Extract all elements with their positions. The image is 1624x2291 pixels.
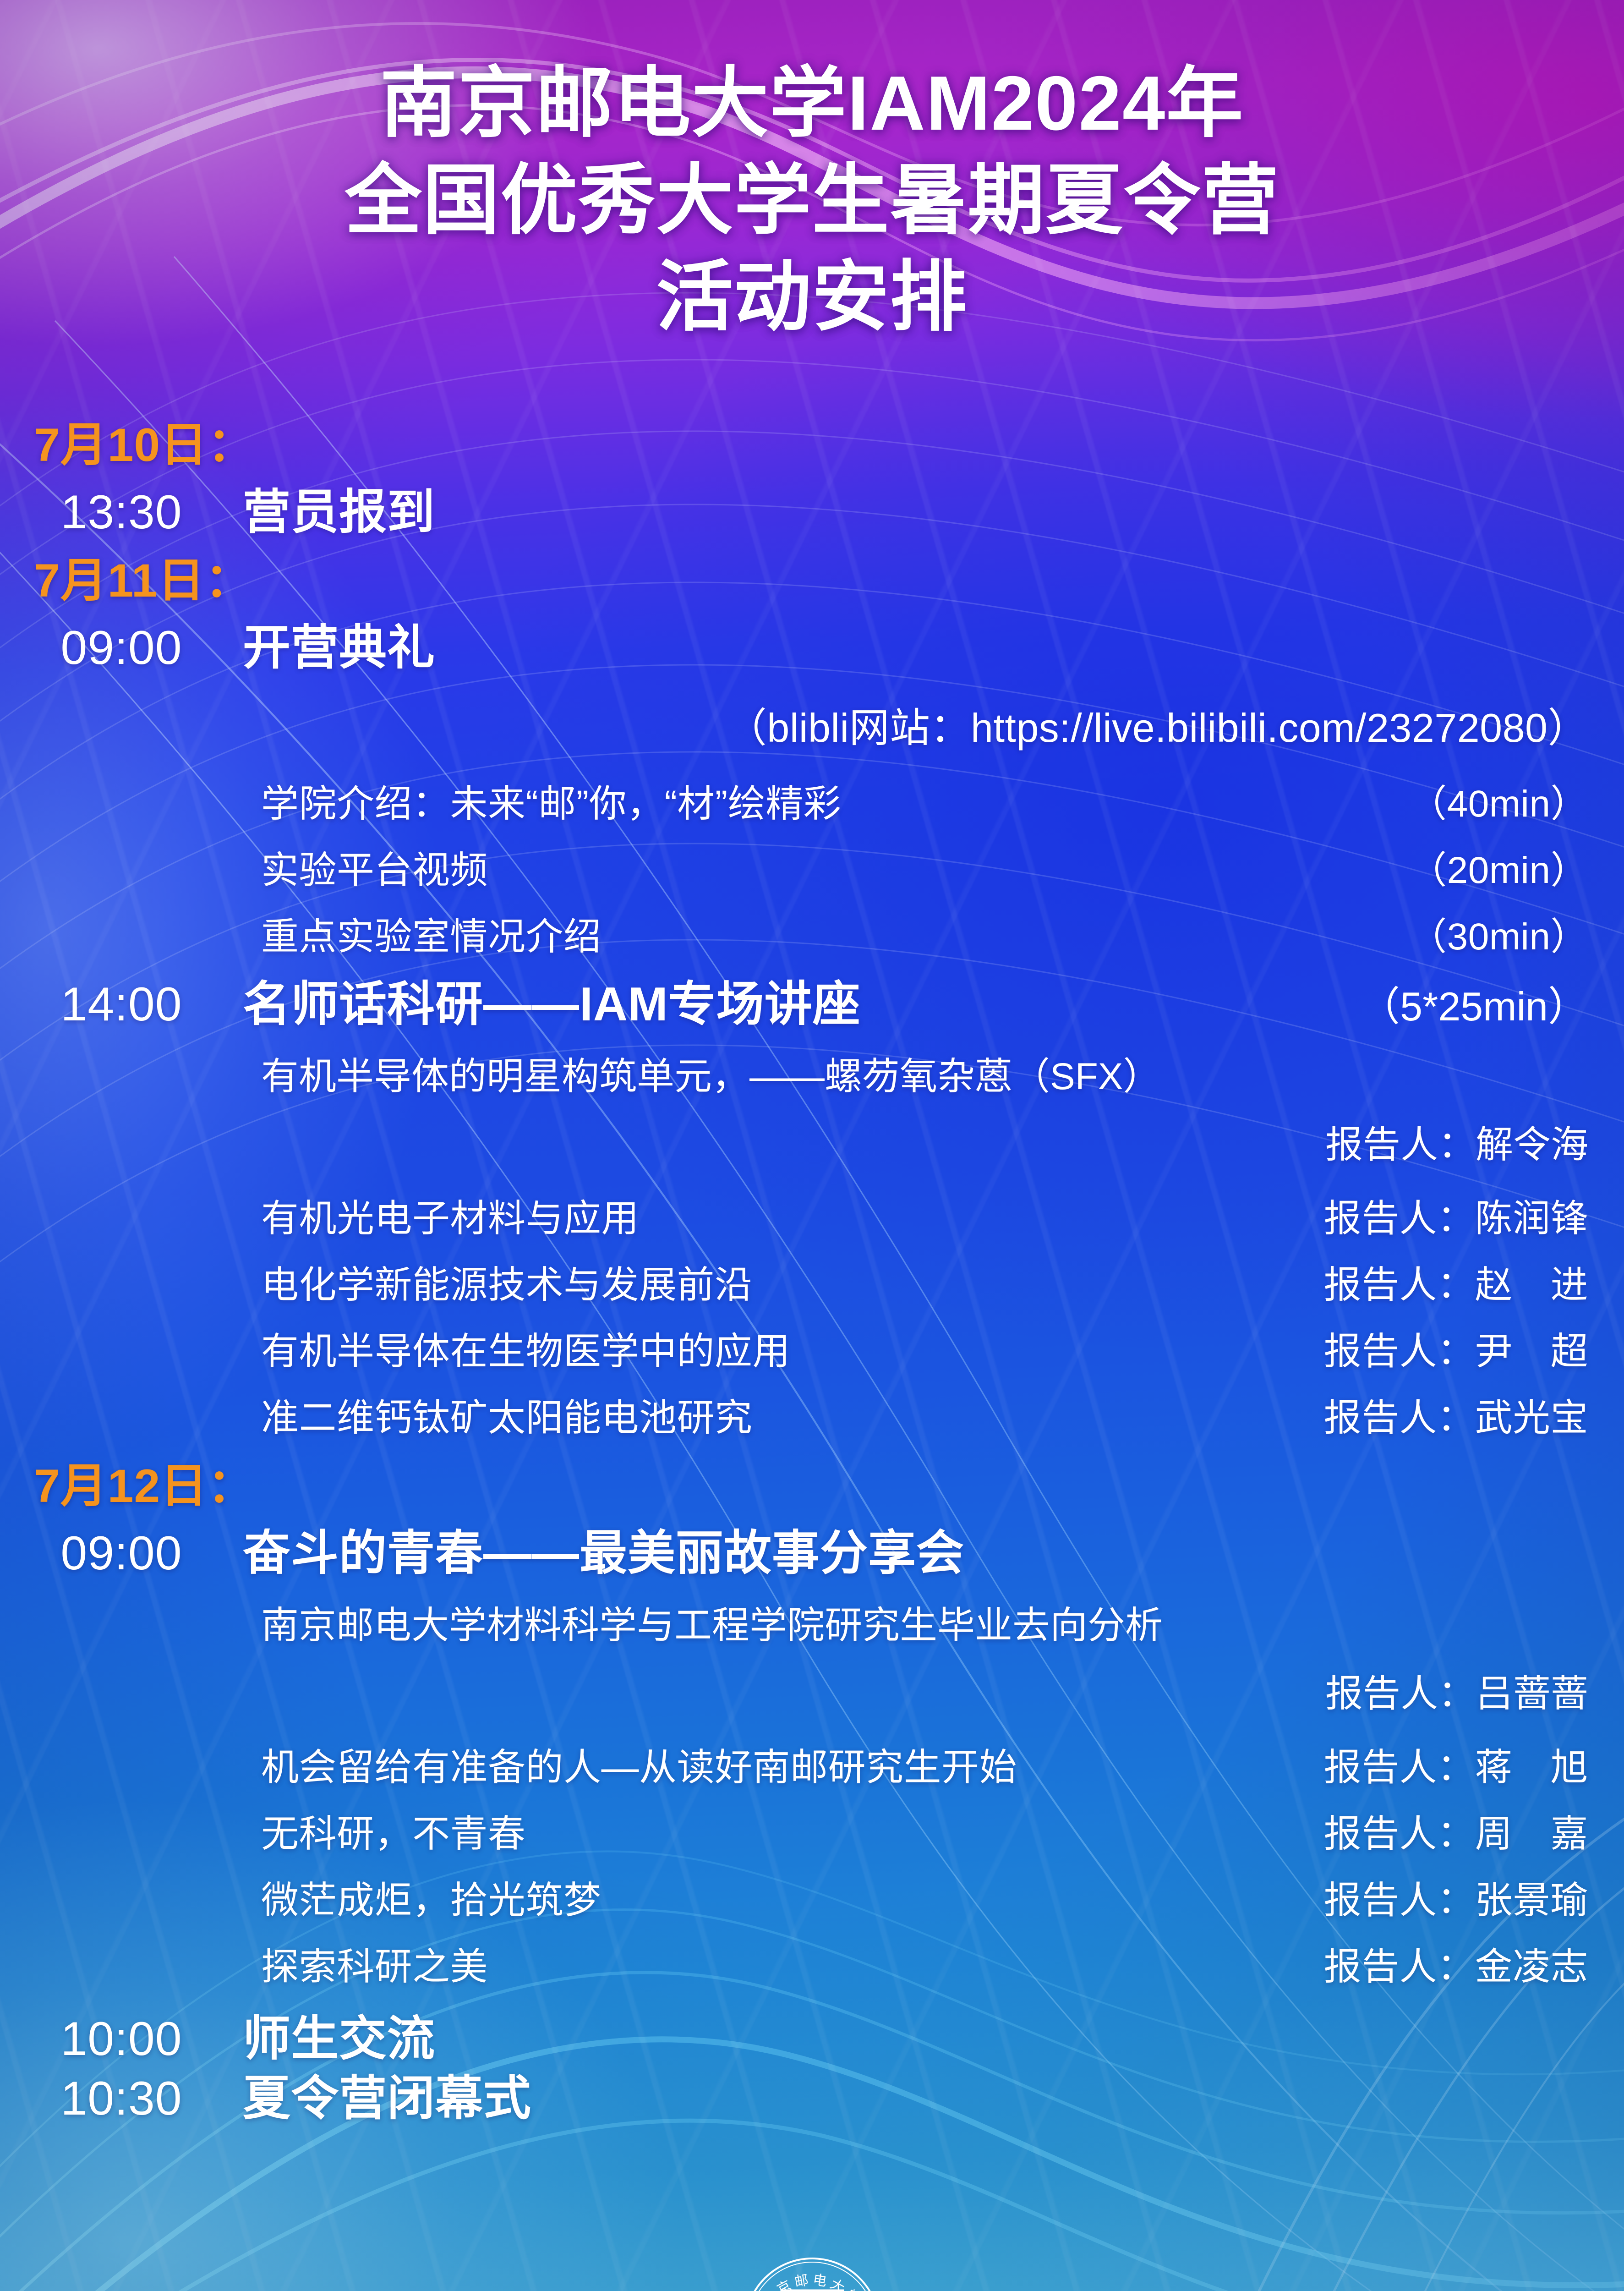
talk-speaker: 报告人：吕蔷蔷 [0, 1663, 1624, 1717]
talk-speaker: 报告人：张景瑜 [1323, 1869, 1588, 1924]
schedule-row-checkin: 13:30 营员报到 [0, 488, 1624, 536]
talk-row: 有机光电子材料与应用 报告人：陈润锋 [0, 1188, 1624, 1242]
session-title: 重点实验室情况介绍 [261, 906, 601, 960]
motto-right: 自强不息 [957, 2290, 1197, 2291]
talk-row: 有机半导体在生物医学中的应用 报告人：尹 超 [0, 1321, 1624, 1375]
closing-title: 夏令营闭幕式 [243, 2075, 531, 2122]
talk-speaker: 报告人：尹 超 [1323, 1321, 1588, 1375]
talk-title: 探索科研之美 [261, 1936, 488, 1990]
schedule-row-closing: 10:30 夏令营闭幕式 [0, 2075, 1624, 2122]
title-line-1: 南京邮电大学IAM2024年 [0, 55, 1624, 152]
talk-speaker: 报告人：金凌志 [1323, 1936, 1588, 1990]
talk-speaker: 报告人：周 嘉 [1323, 1803, 1588, 1858]
poster-root: 南京邮电大学IAM2024年 全国优秀大学生暑期夏令营 活动安排 7月10日： … [0, 0, 1624, 2291]
talk-speaker: 报告人：解令海 [0, 1114, 1624, 1168]
talk-row: 无科研，不青春 报告人：周 嘉 [0, 1803, 1624, 1858]
iam-lecture-title: 名师话科研——IAM专场讲座 [243, 981, 861, 1028]
live-stream-link[interactable]: （blibli网站：https://live.bilibili.com/2327… [0, 696, 1624, 754]
talk-speaker: 报告人：蒋 旭 [1323, 1737, 1588, 1791]
title-line-3: 活动安排 [0, 249, 1624, 346]
iam-lecture-duration: （5*25min） [1360, 987, 1624, 1027]
session-row: 重点实验室情况介绍 （30min） [0, 906, 1624, 960]
schedule-body: 7月10日： 13:30 营员报到 7月11日： 09:00 开营典礼 （bli… [0, 422, 1624, 2122]
talk-row: 微茫成炬，拾光筑梦 报告人：张景瑜 [0, 1869, 1624, 1924]
talk-title: 南京邮电大学材料科学与工程学院研究生毕业去向分析 [0, 1595, 1624, 1649]
opening-title: 开营典礼 [243, 624, 435, 672]
talk-title: 有机光电子材料与应用 [261, 1188, 639, 1242]
session-row: 实验平台视频 （20min） [0, 839, 1624, 894]
day-header-july-10: 7月10日： [34, 422, 1624, 468]
iam-lecture-time: 14:00 [0, 981, 243, 1028]
title-line-2: 全国优秀大学生暑期夏令营 [0, 152, 1624, 249]
story-session-time: 09:00 [0, 1529, 243, 1577]
session-title: 学院介绍：未来“邮”你，“材”绘精彩 [261, 773, 841, 828]
exchange-title: 师生交流 [243, 2015, 435, 2063]
poster-footer: 信达天下 南京邮电大学 Nanjing University of Posts … [0, 2248, 1624, 2291]
talk-title: 无科研，不青春 [261, 1803, 526, 1858]
svg-text:南京邮电大学: 南京邮电大学 [760, 2272, 864, 2291]
talk-row: 机会留给有准备的人—从读好南邮研究生开始 报告人：蒋 旭 [0, 1737, 1624, 1791]
day-header-july-11: 7月11日： [34, 557, 1624, 604]
talk-speaker: 报告人：武光宝 [1323, 1387, 1588, 1441]
talk-title: 有机半导体的明星构筑单元，——螺芴氧杂蒽（SFX） [0, 1046, 1624, 1100]
schedule-row-story-session: 09:00 奋斗的青春——最美丽故事分享会 [0, 1529, 1624, 1577]
exchange-time: 10:00 [0, 2015, 243, 2063]
story-session-title: 奋斗的青春——最美丽故事分享会 [243, 1529, 964, 1577]
opening-time: 09:00 [0, 624, 243, 672]
session-duration: （20min） [1409, 839, 1588, 894]
talk-row: 准二维钙钛矿太阳能电池研究 报告人：武光宝 [0, 1387, 1624, 1441]
talk-title: 准二维钙钛矿太阳能电池研究 [261, 1387, 753, 1441]
talk-title: 微茫成炬，拾光筑梦 [261, 1869, 601, 1924]
njupt-crest-icon: 南京邮电大学 Nanjing University of Posts and T… [737, 2248, 888, 2291]
talk-row: 电化学新能源技术与发展前沿 报告人：赵 进 [0, 1254, 1624, 1309]
talk-title: 机会留给有准备的人—从读好南邮研究生开始 [261, 1737, 1017, 1791]
session-title: 实验平台视频 [261, 839, 488, 894]
schedule-row-opening: 09:00 开营典礼 [0, 624, 1624, 672]
schedule-row-exchange: 10:00 师生交流 [0, 2015, 1624, 2063]
checkin-title: 营员报到 [243, 488, 435, 536]
closing-time: 10:30 [0, 2075, 243, 2122]
day-header-july-12: 7月12日： [34, 1463, 1624, 1509]
talk-row: 探索科研之美 报告人：金凌志 [0, 1936, 1624, 1990]
session-duration: （40min） [1409, 773, 1588, 828]
talk-title: 电化学新能源技术与发展前沿 [261, 1254, 753, 1309]
talk-speaker: 报告人：赵 进 [1323, 1254, 1588, 1309]
talk-speaker: 报告人：陈润锋 [1323, 1188, 1588, 1242]
session-row: 学院介绍：未来“邮”你，“材”绘精彩 （40min） [0, 773, 1624, 828]
checkin-time: 13:30 [0, 488, 243, 536]
session-duration: （30min） [1409, 906, 1588, 960]
poster-title: 南京邮电大学IAM2024年 全国优秀大学生暑期夏令营 活动安排 [0, 55, 1624, 346]
schedule-row-iam-lecture: 14:00 名师话科研——IAM专场讲座 （5*25min） [0, 981, 1624, 1028]
motto-left: 信达天下 [427, 2290, 667, 2291]
talk-title: 有机半导体在生物医学中的应用 [261, 1321, 790, 1375]
